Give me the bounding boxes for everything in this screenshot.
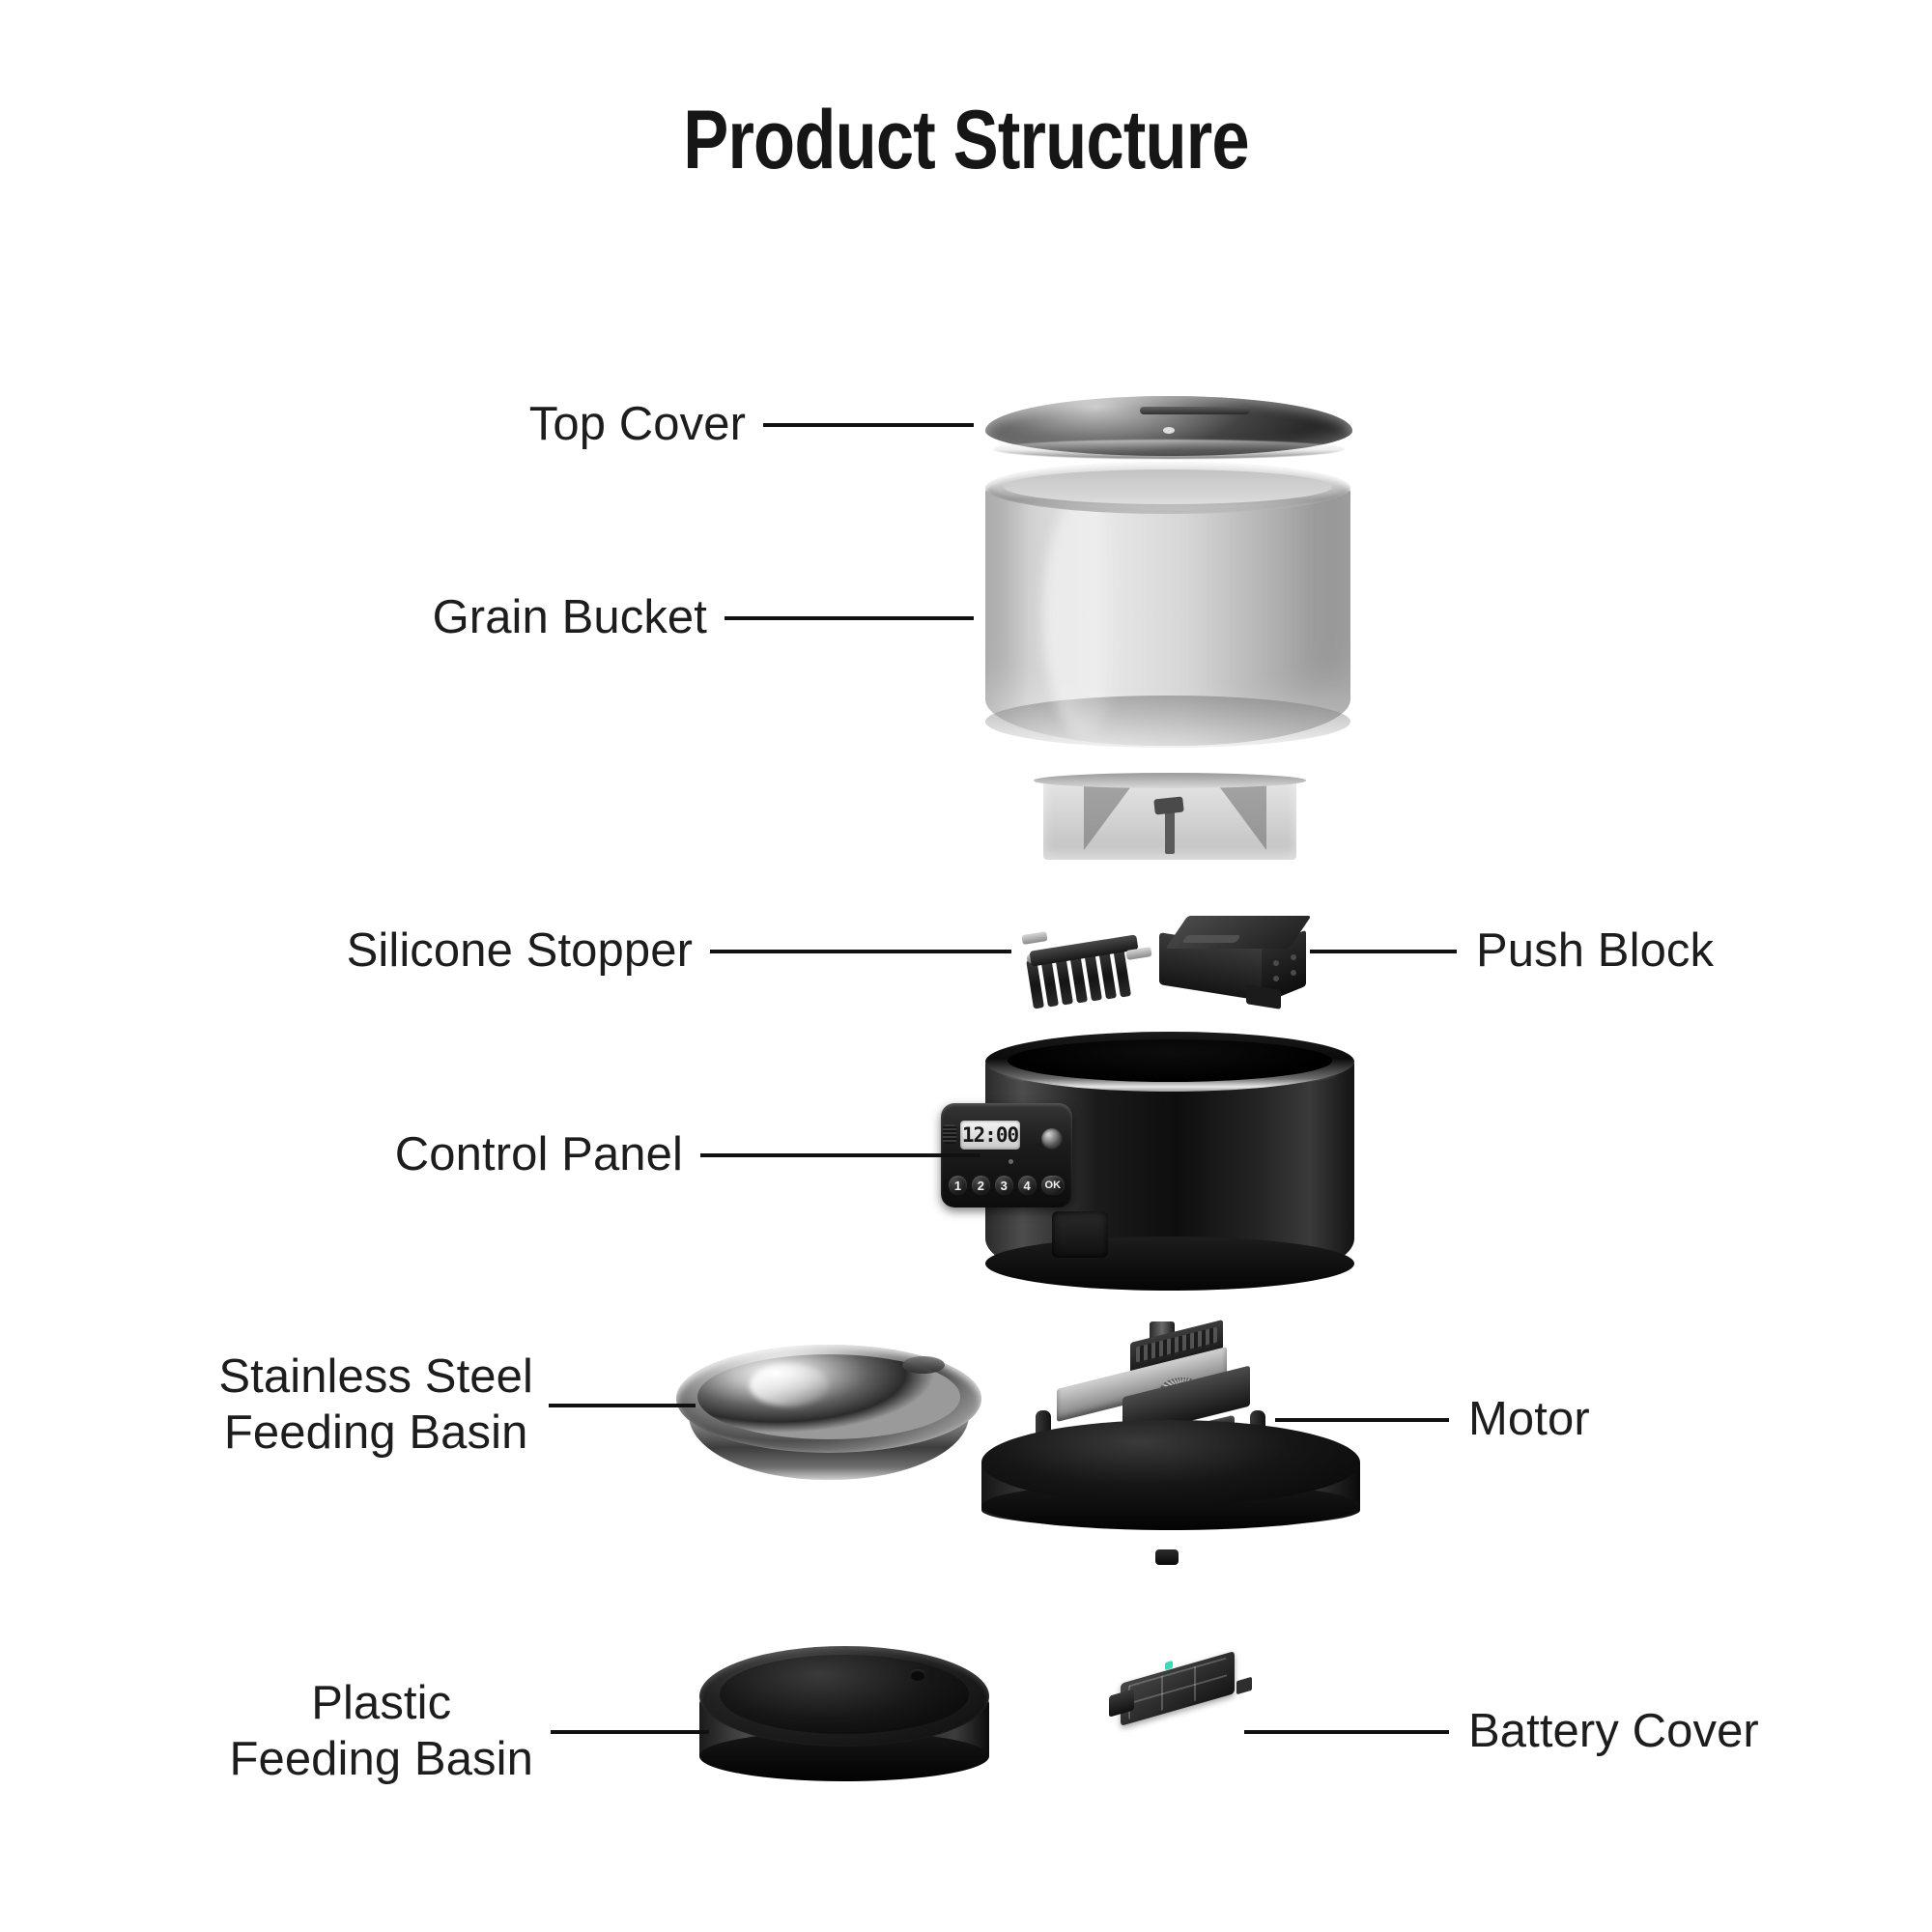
button-3[interactable]: 3 [995,1176,1013,1195]
top-cover-slot [1140,407,1250,414]
grain-bucket-sheen [1043,495,1123,736]
leader-line-push-block [1310,950,1457,953]
label-grain-bucket: Grain Bucket [433,590,707,646]
hopper-chute-right [1216,782,1266,850]
leader-line-top-cover [763,423,974,427]
push-block-screw [1291,954,1296,960]
leader-line-plastic-basin [551,1730,709,1734]
part-top-cover-graphic [985,396,1352,456]
leader-line-silicone-stopper [710,950,1011,953]
push-block-screw [1273,960,1279,966]
hopper-lip [1034,773,1307,788]
push-block-tab [1246,984,1281,1009]
part-battery-cover-graphic [1109,1658,1254,1737]
hopper-cap [1154,796,1185,814]
product-structure-diagram: Product Structure [0,0,1932,1932]
label-steel-basin: Stainless Steel Feeding Basin [218,1350,533,1462]
plastic-bowl-inner [720,1655,969,1734]
button-row: 1 2 3 4 OK [949,1173,1065,1198]
part-plastic-basin-graphic [699,1646,989,1808]
part-grain-bucket-graphic [985,462,1350,781]
leader-line-motor [1275,1418,1449,1422]
grain-bucket-body [985,487,1350,746]
housing-dispense-window [1052,1211,1108,1258]
push-block-screw [1273,976,1279,981]
base-dish-top [981,1420,1360,1505]
label-motor: Motor [1468,1392,1590,1448]
lcd-display: 12:00 [960,1121,1020,1150]
plastic-bowl-nub [910,1669,925,1681]
page-title: Product Structure [174,93,1758,188]
button-2[interactable]: 2 [972,1176,990,1195]
label-push-block: Push Block [1476,923,1714,980]
speaker-icon [943,1124,956,1144]
label-top-cover: Top Cover [529,397,746,453]
battery-cover-ear [1236,1677,1252,1695]
button-ok[interactable]: OK [1041,1176,1065,1195]
housing-opening [1008,1039,1332,1082]
part-stainless-steel-basin-graphic [676,1345,981,1511]
label-silicone-stopper: Silicone Stopper [347,923,693,980]
label-battery-cover: Battery Cover [1468,1704,1759,1760]
steel-bowl-notch [902,1356,945,1374]
push-block-ridge [1181,935,1240,943]
push-block-screw [1291,970,1296,976]
part-base-dish-graphic [981,1420,1360,1555]
push-block-top-plate [1166,916,1312,949]
base-dish-foot [1155,1549,1179,1565]
label-plastic-basin: Plastic Feeding Basin [229,1676,533,1788]
part-hopper-graphic [1043,773,1296,866]
button-1[interactable]: 1 [949,1176,967,1195]
leader-line-grain-bucket [724,616,974,620]
steel-bowl-highlight [750,1364,829,1406]
part-housing-graphic: 12:00 1 2 3 4 OK [985,1032,1354,1318]
hopper-chute-left [1084,782,1134,850]
status-led-icon [1009,1159,1013,1164]
label-control-panel: Control Panel [395,1127,683,1183]
stopper-pin-left [1021,931,1047,945]
leader-line-steel-basin [549,1404,696,1407]
lcd-time-value: 12:00 [962,1123,1018,1147]
top-cover-rim [993,440,1346,459]
leader-line-battery-cover [1244,1730,1449,1734]
part-push-block-graphic [1155,916,1318,1016]
grain-bucket-rim-inner [1004,469,1332,504]
leader-line-control-panel [700,1153,980,1157]
part-silicone-stopper-graphic [1024,929,1148,1014]
button-4[interactable]: 4 [1018,1176,1037,1195]
power-knob[interactable] [1041,1128,1063,1150]
